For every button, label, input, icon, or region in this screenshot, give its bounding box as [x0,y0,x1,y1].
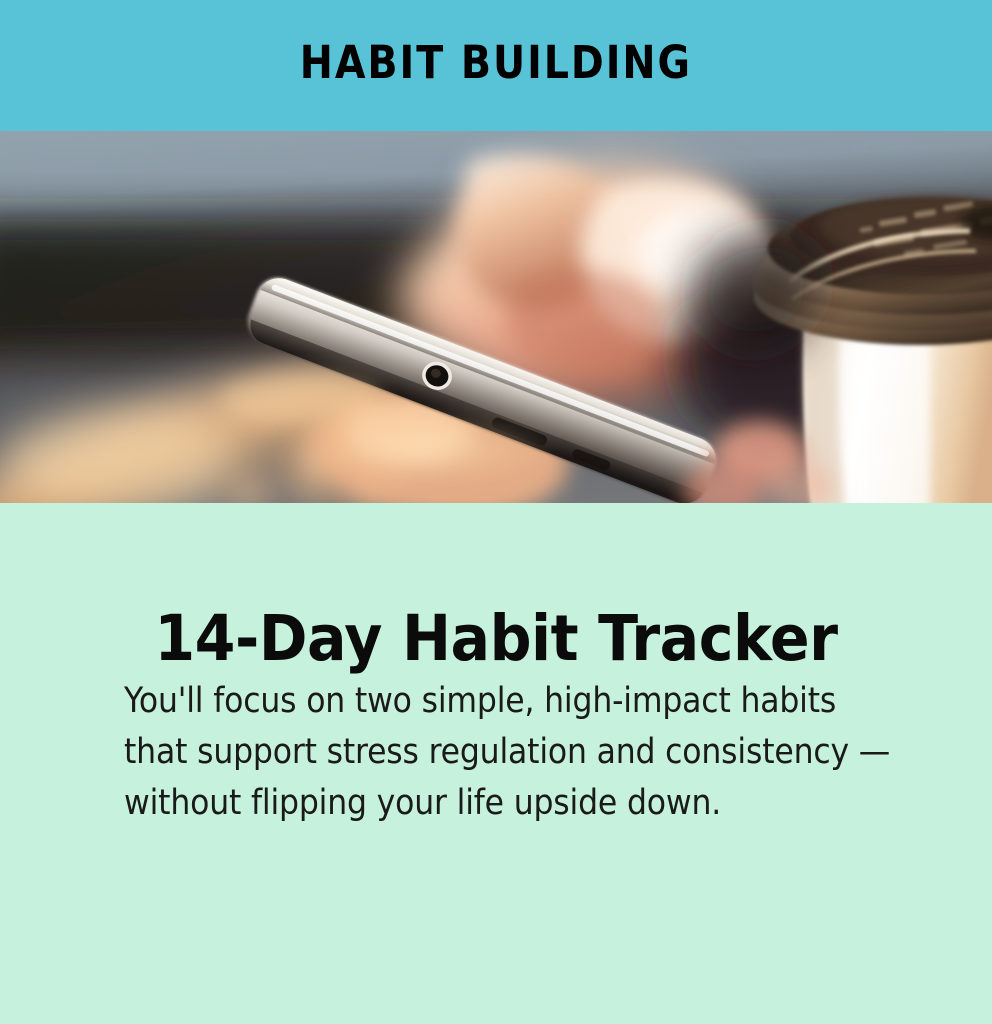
kicker-label: HABIT BUILDING [300,40,692,85]
description-line: You'll focus on two simple, high-impact … [124,676,844,727]
hero-photo-image [0,131,992,503]
kicker-band: HABIT BUILDING [0,0,992,131]
description-line: without flipping your life upside down. [124,778,844,829]
page-title: 14-Day Habit Tracker [35,607,958,670]
description-line: that support stress regulation and consi… [124,727,844,778]
content-panel: 14-Day Habit Tracker You'll focus on two… [0,503,992,1024]
hero-photo [0,131,992,503]
habit-building-slide: HABIT BUILDING [0,0,992,1024]
description-paragraph: You'll focus on two simple, high-impact … [124,676,924,829]
